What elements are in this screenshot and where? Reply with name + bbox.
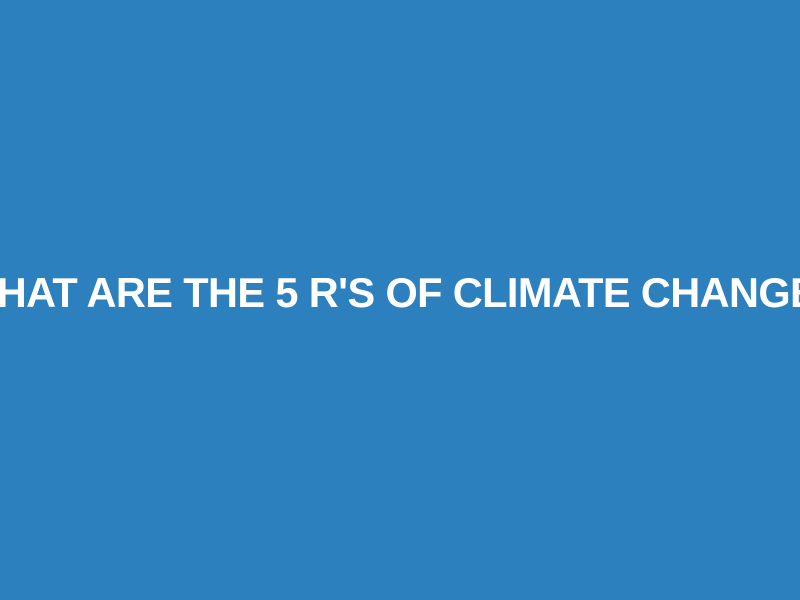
banner-card: WHAT ARE THE 5 R'S OF CLIMATE CHANGE? [0,0,800,600]
page-title: WHAT ARE THE 5 R'S OF CLIMATE CHANGE? [0,271,800,316]
banner-content: WHAT ARE THE 5 R'S OF CLIMATE CHANGE? [0,271,800,316]
